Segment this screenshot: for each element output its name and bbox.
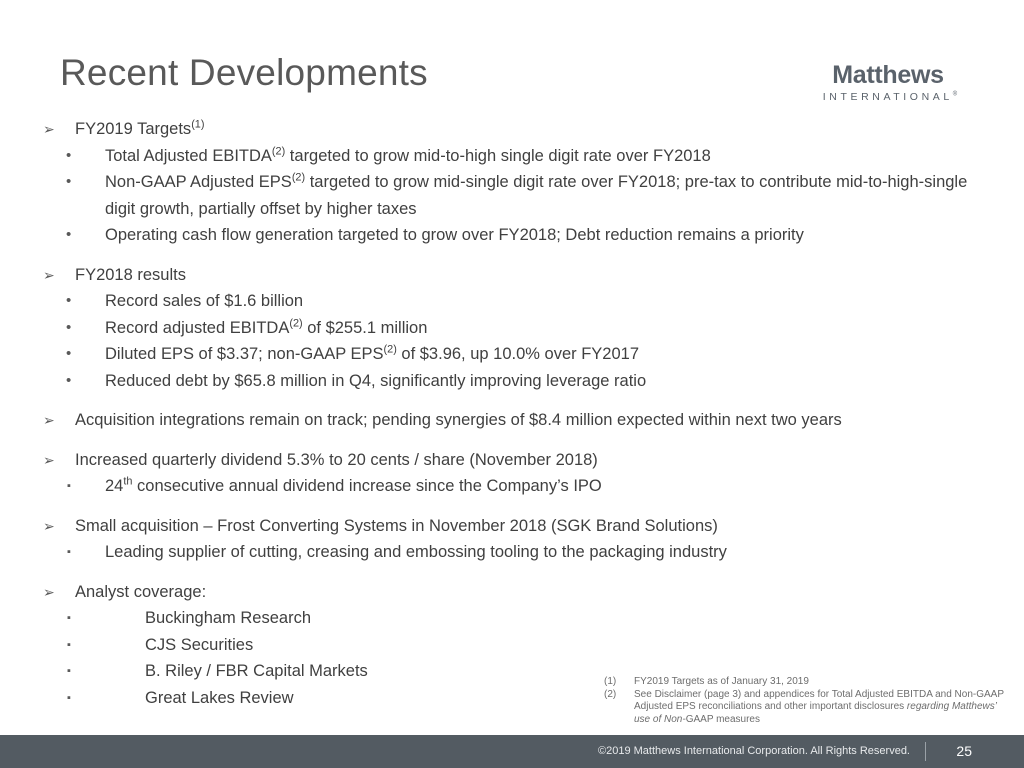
footnote: (2)See Disclaimer (page 3) and appendice…: [604, 689, 1004, 727]
bullet-text: Increased quarterly dividend 5.3% to 20 …: [75, 447, 1000, 474]
arrow-bullet-icon: ➢: [43, 579, 55, 606]
bullet-item: •Diluted EPS of $3.37; non-GAAP EPS(2) o…: [0, 341, 1024, 368]
footnote-reference: (2): [289, 317, 302, 329]
bullet-group-spacer: [0, 394, 1024, 407]
dot-bullet-icon: •: [66, 315, 71, 342]
arrow-bullet-icon: ➢: [43, 447, 55, 474]
bullet-text: FY2018 results: [75, 262, 1000, 289]
bullet-text: Analyst coverage:: [75, 579, 1000, 606]
dot-bullet-icon: •: [66, 368, 71, 395]
bullet-group-spacer: [0, 434, 1024, 447]
bullet-item: •Non-GAAP Adjusted EPS(2) targeted to gr…: [0, 169, 1024, 222]
bullet-text: Record adjusted EBITDA(2) of $255.1 mill…: [105, 315, 982, 342]
bullet-text: Total Adjusted EBITDA(2) targeted to gro…: [105, 143, 982, 170]
footnote: (1)FY2019 Targets as of January 31, 2019: [604, 676, 1004, 689]
logo-subtitle-text: INTERNATIONAL: [823, 91, 953, 103]
footnote-reference: (2): [384, 344, 397, 356]
footnote-reference: th: [123, 476, 132, 488]
footnote-reference: (2): [292, 172, 305, 184]
footnote-reference: (1): [191, 119, 204, 131]
bullet-text: CJS Securities: [145, 632, 982, 659]
bullet-group-spacer: [0, 566, 1024, 579]
dot-bullet-icon: •: [66, 222, 71, 249]
arrow-bullet-icon: ➢: [43, 262, 55, 289]
square-bullet-icon: ▪: [67, 605, 71, 632]
square-bullet-icon: ▪: [67, 632, 71, 659]
bullet-group-spacer: [0, 249, 1024, 262]
dot-bullet-icon: •: [66, 169, 71, 196]
arrow-bullet-icon: ➢: [43, 407, 55, 434]
bullet-text: Non-GAAP Adjusted EPS(2) targeted to gro…: [105, 169, 982, 222]
bullet-item: ➢Analyst coverage:: [0, 579, 1024, 606]
registered-trademark-icon: ®: [953, 92, 957, 98]
slide-body: ➢FY2019 Targets(1)•Total Adjusted EBITDA…: [0, 116, 1024, 711]
footer-copyright: ©2019 Matthews International Corporation…: [598, 735, 910, 768]
bullet-text: Small acquisition – Frost Converting Sys…: [75, 513, 1000, 540]
bullet-item: •Operating cash flow generation targeted…: [0, 222, 1024, 249]
footer-divider: [925, 742, 926, 761]
bullet-text: Diluted EPS of $3.37; non-GAAP EPS(2) of…: [105, 341, 982, 368]
bullet-text: Record sales of $1.6 billion: [105, 288, 982, 315]
bullet-item: •Reduced debt by $65.8 million in Q4, si…: [0, 368, 1024, 395]
footnote-text: See Disclaimer (page 3) and appendices f…: [634, 689, 1004, 725]
matthews-international-logo: Matthews INTERNATIONAL®: [798, 62, 978, 103]
square-bullet-icon: ▪: [67, 539, 71, 566]
bullet-item: ▪CJS Securities: [0, 632, 1024, 659]
square-bullet-icon: ▪: [67, 685, 71, 712]
arrow-bullet-icon: ➢: [43, 116, 55, 143]
footnote-marker: (2): [604, 689, 616, 702]
logo-wordmark: Matthews: [798, 62, 978, 88]
logo-subtitle: INTERNATIONAL®: [802, 91, 978, 103]
bullet-item: •Record sales of $1.6 billion: [0, 288, 1024, 315]
dot-bullet-icon: •: [66, 341, 71, 368]
footer-bar: ©2019 Matthews International Corporation…: [0, 735, 1024, 768]
bullet-item: ➢FY2018 results: [0, 262, 1024, 289]
dot-bullet-icon: •: [66, 143, 71, 170]
footnote-marker: (1): [604, 676, 616, 689]
page-title: Recent Developments: [60, 52, 428, 94]
bullet-item: ➢Acquisition integrations remain on trac…: [0, 407, 1024, 434]
bullet-item: ▪Buckingham Research: [0, 605, 1024, 632]
bullet-item: •Record adjusted EBITDA(2) of $255.1 mil…: [0, 315, 1024, 342]
bullet-text: 24th consecutive annual dividend increas…: [105, 473, 982, 500]
bullet-text: Leading supplier of cutting, creasing an…: [105, 539, 982, 566]
dot-bullet-icon: •: [66, 288, 71, 315]
bullet-text: Operating cash flow generation targeted …: [105, 222, 982, 249]
square-bullet-icon: ▪: [67, 473, 71, 500]
footnote-emphasis: regarding Matthews’ use of Non-: [634, 701, 996, 725]
bullet-item: ➢Increased quarterly dividend 5.3% to 20…: [0, 447, 1024, 474]
square-bullet-icon: ▪: [67, 658, 71, 685]
footnotes: (1)FY2019 Targets as of January 31, 2019…: [604, 676, 1004, 726]
bullet-text: Acquisition integrations remain on track…: [75, 407, 1000, 434]
footnote-reference: (2): [272, 145, 285, 157]
bullet-text: Reduced debt by $65.8 million in Q4, sig…: [105, 368, 982, 395]
bullet-group-spacer: [0, 500, 1024, 513]
bullet-item: ▪24th consecutive annual dividend increa…: [0, 473, 1024, 500]
page-number: 25: [956, 735, 972, 768]
arrow-bullet-icon: ➢: [43, 513, 55, 540]
footnote-text: FY2019 Targets as of January 31, 2019: [634, 676, 809, 687]
bullet-item: ➢Small acquisition – Frost Converting Sy…: [0, 513, 1024, 540]
bullet-item: ▪Leading supplier of cutting, creasing a…: [0, 539, 1024, 566]
bullet-item: ➢FY2019 Targets(1): [0, 116, 1024, 143]
bullet-item: •Total Adjusted EBITDA(2) targeted to gr…: [0, 143, 1024, 170]
bullet-text: FY2019 Targets(1): [75, 116, 1000, 143]
bullet-text: Buckingham Research: [145, 605, 982, 632]
